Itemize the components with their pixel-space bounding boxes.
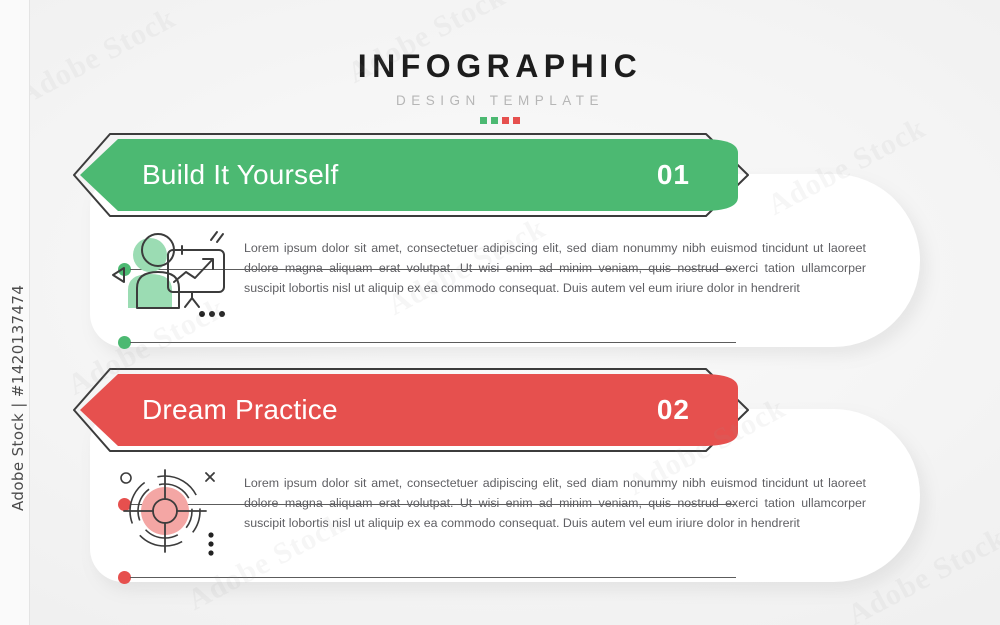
- infographic-row-2[interactable]: Dream Practice 02: [0, 367, 1000, 582]
- presenter-chart-icon: [110, 228, 230, 324]
- target-crosshair-icon: [110, 463, 230, 559]
- banner-number-2: 02: [657, 394, 690, 426]
- page-header: INFOGRAPHIC DESIGN TEMPLATE: [0, 48, 1000, 124]
- swatch-2: [491, 117, 498, 124]
- infographic-canvas: Adobe Stock Adobe Stock Adobe Stock Adob…: [0, 0, 1000, 625]
- row-content-1: Lorem ipsum dolor sit amet, consectetuer…: [110, 228, 900, 338]
- banner-2[interactable]: Dream Practice 02: [78, 374, 738, 446]
- swatch-4: [513, 117, 520, 124]
- infographic-row-1[interactable]: Build It Yourself 01: [0, 132, 1000, 347]
- swatch-row: [0, 117, 1000, 124]
- stock-watermark-label: Adobe Stock | #1420137474: [9, 99, 27, 519]
- row-body-text-2: Lorem ipsum dolor sit amet, consectetuer…: [244, 473, 900, 533]
- page-title: INFOGRAPHIC: [0, 48, 1000, 85]
- banner-label-2: Dream Practice: [142, 394, 338, 426]
- connector-rule: [130, 342, 736, 344]
- swatch-3: [502, 117, 509, 124]
- row-content-2: Lorem ipsum dolor sit amet, consectetuer…: [110, 463, 900, 573]
- row-body-text-1: Lorem ipsum dolor sit amet, consectetuer…: [244, 238, 900, 298]
- connector-rule: [130, 577, 736, 579]
- banner-label-1: Build It Yourself: [142, 159, 338, 191]
- banner-number-1: 01: [657, 159, 690, 191]
- swatch-1: [480, 117, 487, 124]
- banner-1[interactable]: Build It Yourself 01: [78, 139, 738, 211]
- page-subtitle: DESIGN TEMPLATE: [0, 93, 1000, 108]
- stock-watermark-rail: Adobe Stock | #1420137474: [0, 0, 30, 625]
